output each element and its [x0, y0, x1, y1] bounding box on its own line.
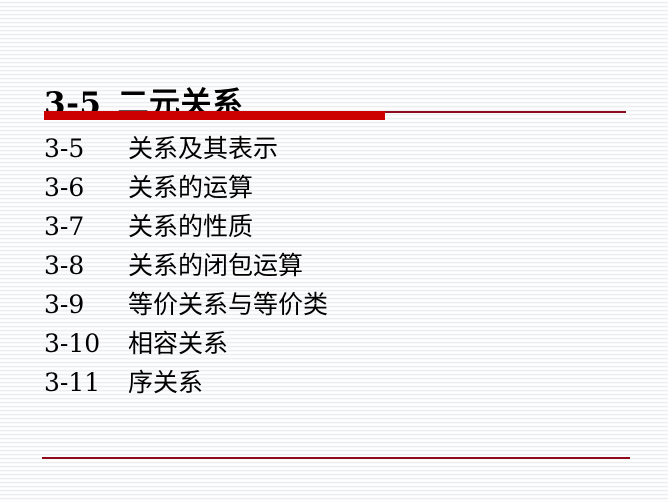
- title-divider-thin-line: [385, 111, 626, 113]
- list-item[interactable]: 3-9 等价关系与等价类: [44, 290, 634, 329]
- list-item-label: 相容关系: [128, 329, 228, 359]
- outline-list: 3-5 关系及其表示 3-6 关系的运算 3-7 关系的性质 3-8 关系的闭包…: [44, 134, 634, 407]
- footer-divider: [42, 457, 630, 459]
- list-item[interactable]: 3-8 关系的闭包运算: [44, 251, 634, 290]
- list-item-label: 关系的性质: [128, 212, 253, 242]
- list-item-number: 3-8: [44, 251, 128, 281]
- list-item[interactable]: 3-6 关系的运算: [44, 173, 634, 212]
- list-item[interactable]: 3-5 关系及其表示: [44, 134, 634, 173]
- list-item[interactable]: 3-11 序关系: [44, 368, 634, 407]
- list-item-number: 3-9: [44, 290, 128, 320]
- list-item-label: 关系的运算: [128, 173, 253, 203]
- list-item[interactable]: 3-7 关系的性质: [44, 212, 634, 251]
- list-item-number: 3-6: [44, 173, 128, 203]
- list-item-number: 3-11: [44, 368, 128, 398]
- list-item-label: 等价关系与等价类: [128, 290, 328, 320]
- list-item[interactable]: 3-10 相容关系: [44, 329, 634, 368]
- list-item-label: 序关系: [128, 368, 203, 398]
- list-item-number: 3-7: [44, 212, 128, 242]
- list-item-number: 3-10: [44, 329, 128, 359]
- list-item-label: 关系及其表示: [128, 134, 278, 164]
- title-divider-thick-bar: [44, 111, 385, 120]
- list-item-label: 关系的闭包运算: [128, 251, 303, 281]
- list-item-number: 3-5: [44, 134, 128, 164]
- title-divider: [44, 110, 626, 120]
- slide-canvas: 3-5二元关系 3-5 关系及其表示 3-6 关系的运算 3-7 关系的性质 3…: [0, 0, 668, 502]
